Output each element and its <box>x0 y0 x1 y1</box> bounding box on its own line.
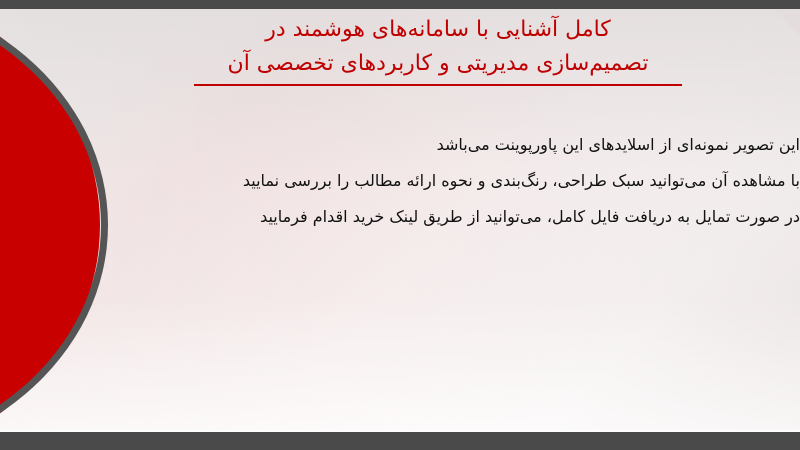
slide-title: کامل آشنایی با سامانه‌های هوشمند در تصمی… <box>0 13 800 86</box>
body-line-3: در صورت تمایل به دریافت فایل کامل، می‌تو… <box>140 199 800 235</box>
body-line-1: این تصویر نمونه‌ای از اسلایدهای این پاور… <box>140 127 800 163</box>
slide-content: کامل آشنایی با سامانه‌های هوشمند در تصمی… <box>0 9 800 432</box>
body-line-2: با مشاهده آن می‌توانید سبک طراحی، رنگ‌بن… <box>140 163 800 199</box>
title-line-1: کامل آشنایی با سامانه‌های هوشمند در <box>120 13 756 47</box>
slide-body: این تصویر نمونه‌ای از اسلایدهای این پاور… <box>0 127 800 235</box>
presentation-slide: کامل آشنایی با سامانه‌های هوشمند در تصمی… <box>0 0 800 450</box>
title-line-2: تصمیم‌سازی مدیریتی و کاربردهای تخصصی آن <box>194 47 683 86</box>
top-frame-bar <box>0 0 800 9</box>
bottom-frame-bar <box>0 432 800 450</box>
